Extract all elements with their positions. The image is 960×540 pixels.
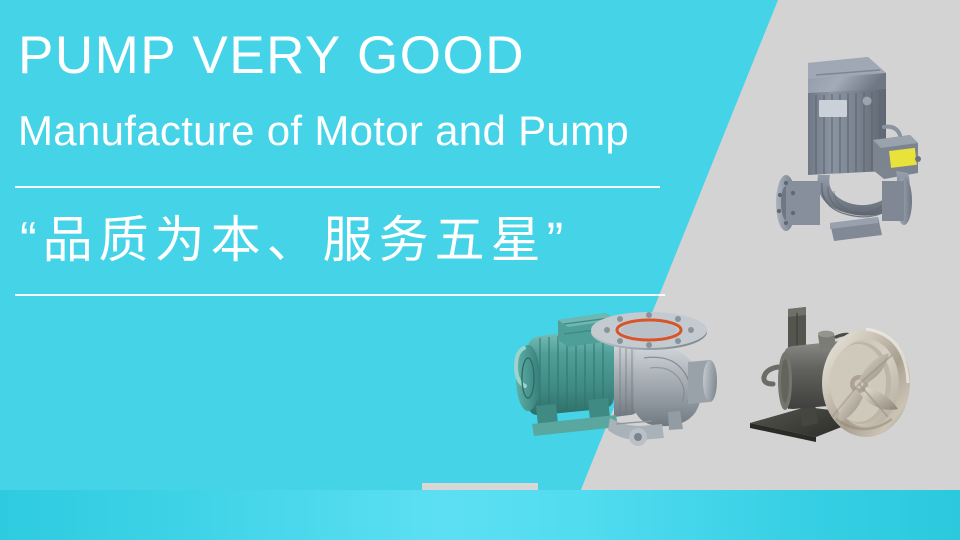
subtitle: Manufacture of Motor and Pump [18, 105, 629, 157]
product-image-submersible-mixer [740, 295, 940, 460]
product-image-centrifugal-pump [492, 300, 717, 465]
slogan-text: “品质为本、服务五星” [20, 196, 569, 284]
page-title: PUMP VERY GOOD [18, 26, 525, 86]
bottom-cyan-band [0, 490, 960, 540]
inline-pump-icon [760, 55, 930, 250]
centrifugal-pump-icon [492, 300, 717, 465]
divider-top [15, 186, 660, 188]
text-block: PUMP VERY GOOD Manufacture of Motor and … [0, 0, 700, 320]
divider-bottom [15, 294, 665, 296]
submersible-mixer-icon [740, 295, 940, 460]
product-image-inline-pump [760, 55, 930, 250]
promotional-banner: PUMP VERY GOOD Manufacture of Motor and … [0, 0, 960, 540]
